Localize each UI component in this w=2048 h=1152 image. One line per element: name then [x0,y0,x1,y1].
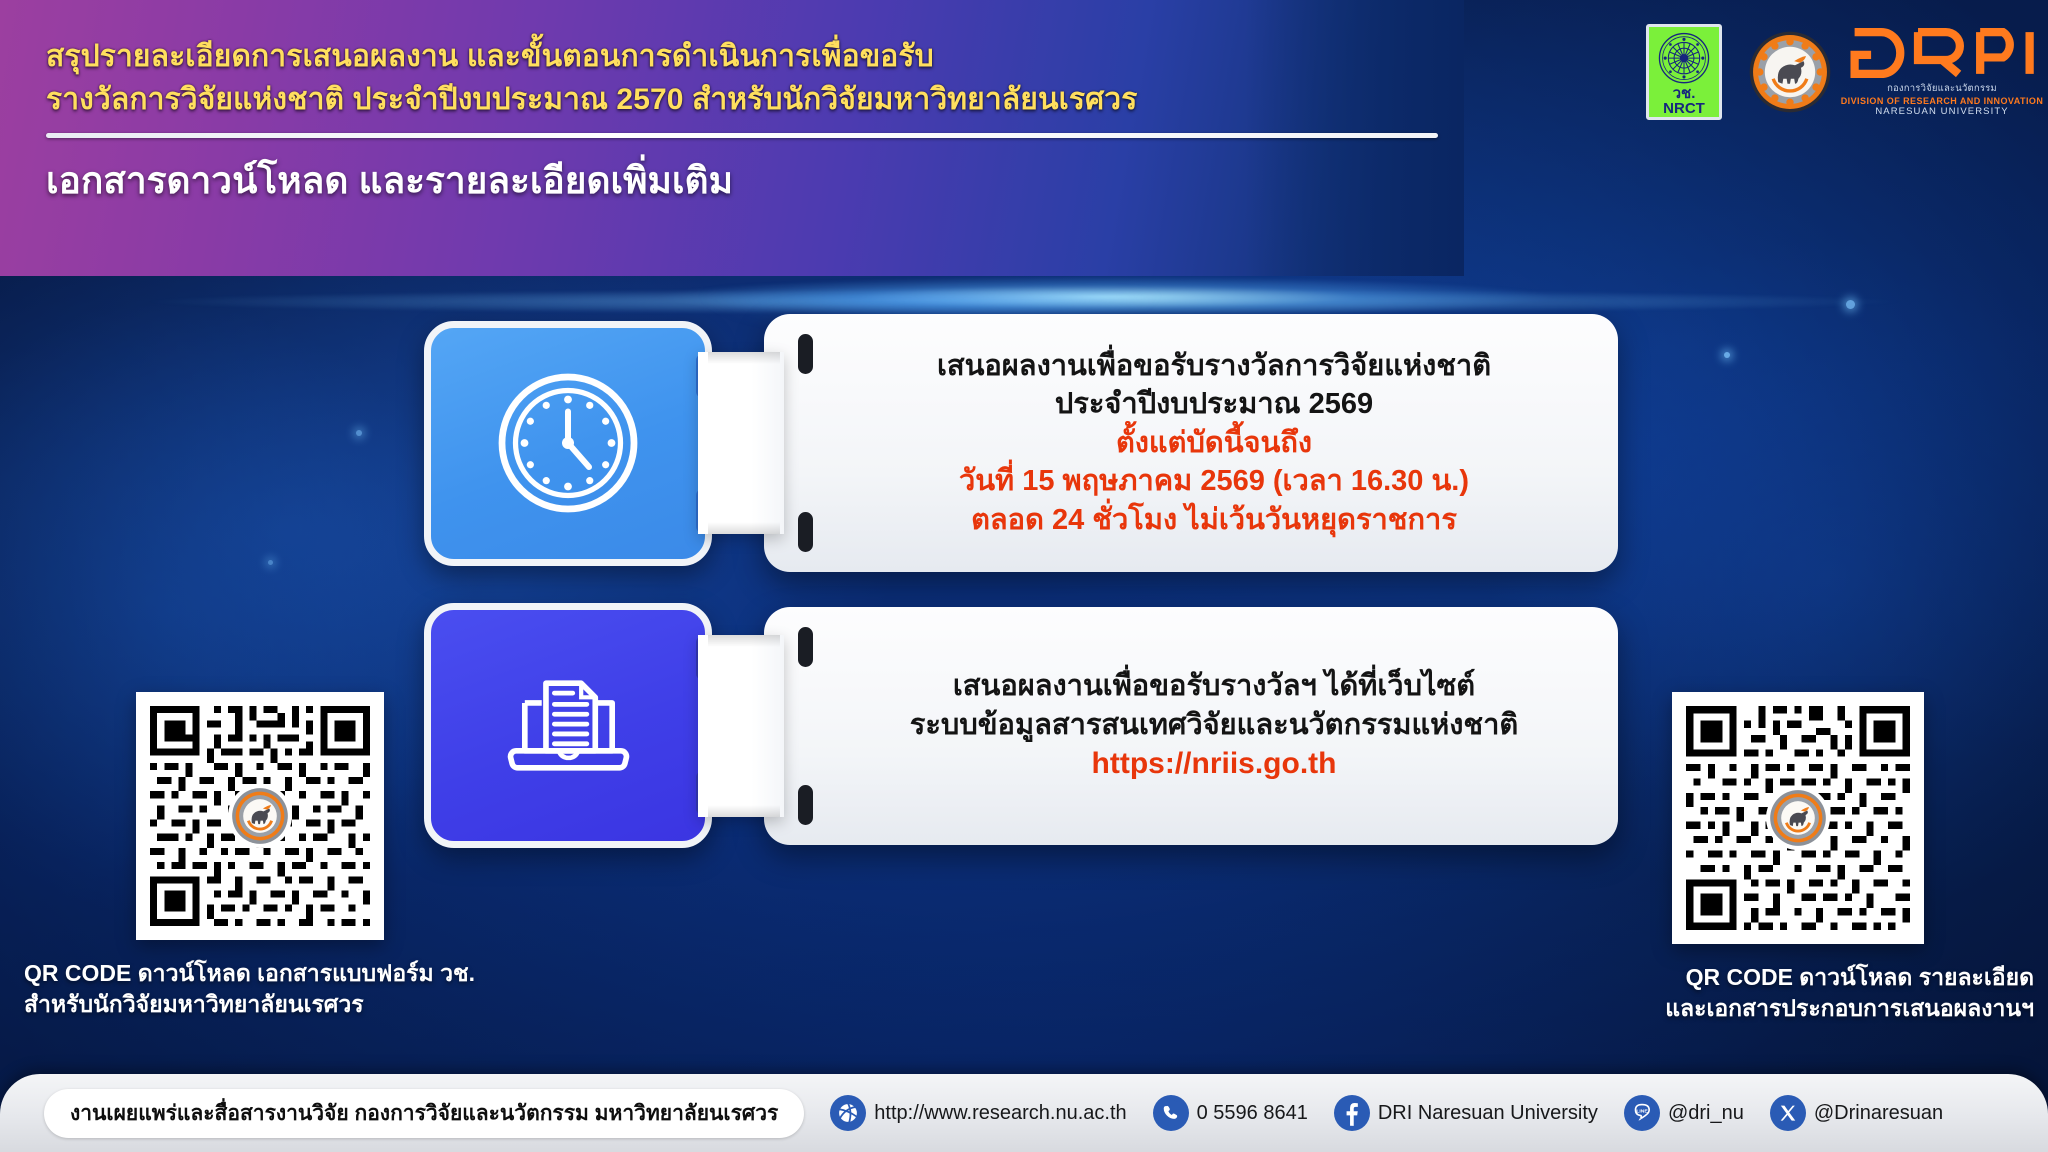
qr-code-details[interactable] [1672,692,1924,944]
website-icon [830,1095,866,1131]
qr-center-logo [1766,786,1830,850]
card-line: ประจำปีงบประมาณ 2569 [1055,385,1373,424]
dri-wordmark-icon [1847,27,2037,79]
footer-bar: งานเผยแพร่และสื่อสารงานวิจัย กองการวิจัย… [0,1074,2048,1152]
ribbon-connector [698,635,784,817]
nrct-english-abbr: NRCT [1663,101,1705,117]
icon-box-clock [424,321,712,566]
card-pin-bottom [798,512,813,552]
logo-group: วช. NRCT กองการวิจัยและนวัตกรรม DIVI [1646,24,2026,120]
page-subtitle: เอกสารดาวน์โหลด และรายละเอียดเพิ่มเติม [46,158,1446,204]
website-label: http://www.research.nu.ac.th [874,1102,1126,1125]
contact-line[interactable]: LINE @dri_nu [1624,1095,1744,1131]
background-spark [1724,352,1730,358]
background-spark [356,430,362,436]
clock-icon [493,368,643,518]
phone-icon [1153,1095,1189,1131]
ribbon-connector [698,352,784,534]
icon-box-laptop [424,603,712,848]
naresuan-university-seal-icon [1748,30,1832,114]
facebook-label: DRI Naresuan University [1378,1102,1598,1125]
nriis-url-link[interactable]: https://nriis.go.th [1092,744,1337,784]
qr-code-details-block: QR CODE ดาวน์โหลด รายละเอียด และเอกสารปร… [1658,692,1938,1024]
dri-thai-label: กองการวิจัยและนวัตกรรม [1887,81,1997,96]
qr-code-forms[interactable] [136,692,384,940]
line-label: @dri_nu [1668,1102,1744,1125]
dri-english-label-1: DIVISION OF RESEARCH AND INNOVATION [1841,96,2044,106]
contact-phone[interactable]: 0 5596 8641 [1153,1095,1308,1131]
qr-code-forms-block: QR CODE ดาวน์โหลด เอกสารแบบฟอร์ม วช. สำห… [120,692,400,1020]
title-divider [46,133,1438,138]
contact-x-twitter[interactable]: @Drinaresuan [1770,1095,1943,1131]
phone-label: 0 5596 8641 [1197,1102,1308,1125]
naresuan-seal-icon [1769,789,1827,847]
card-line: เสนอผลงานเพื่อขอรับรางวัลการวิจัยแห่งชาต… [937,347,1491,386]
nrct-thai-abbr: วช. [1673,86,1696,101]
card-line: ตั้งแต่บัดนี้จนถึง [1116,424,1312,463]
card-pin-top [798,334,813,374]
facebook-icon [1334,1095,1370,1131]
info-card-deadline: เสนอผลงานเพื่อขอรับรางวัลการวิจัยแห่งชาต… [424,314,1618,572]
card-line: ตลอด 24 ชั่วโมง ไม่เว้นวันหยุดราชการ [971,501,1457,540]
nrct-seal-icon [1656,32,1712,84]
x-twitter-label: @Drinaresuan [1814,1102,1943,1125]
info-card-website: เสนอผลงานเพื่อขอรับรางวัลฯ ได้ที่เว็บไซต… [424,603,1618,848]
footer-org-label: งานเผยแพร่และสื่อสารงานวิจัย กองการวิจัย… [44,1089,804,1138]
qr-details-caption: QR CODE ดาวน์โหลด รายละเอียด และเอกสารปร… [1658,962,2034,1024]
background-spark [1846,300,1855,309]
qr-details-caption-line-1: QR CODE ดาวน์โหลด รายละเอียด [1658,962,2034,993]
naresuan-seal-icon [231,787,289,845]
x-twitter-icon [1770,1095,1806,1131]
card-pin-top [798,627,813,667]
dri-logo: กองการวิจัยและนวัตกรรม DIVISION OF RESEA… [1858,27,2026,117]
line-icon: LINE [1624,1095,1660,1131]
qr-forms-caption-line-1: QR CODE ดาวน์โหลด เอกสารแบบฟอร์ม วช. [24,958,400,989]
card-pin-bottom [798,785,813,825]
page-title-line-1: สรุปรายละเอียดการเสนอผลงาน และขั้นตอนการ… [46,36,1446,79]
qr-forms-caption: QR CODE ดาวน์โหลด เอกสารแบบฟอร์ม วช. สำห… [24,958,400,1020]
qr-details-caption-line-2: และเอกสารประกอบการเสนอผลงานฯ [1658,993,2034,1024]
svg-text:LINE: LINE [1636,1109,1648,1115]
contact-website[interactable]: http://www.research.nu.ac.th [830,1095,1126,1131]
card-line: วันที่ 15 พฤษภาคม 2569 (เวลา 16.30 น.) [959,462,1469,501]
qr-center-logo [228,784,292,848]
header-text-block: สรุปรายละเอียดการเสนอผลงาน และขั้นตอนการ… [46,36,1446,204]
page-title-line-2: รางวัลการวิจัยแห่งชาติ ประจำปีงบประมาณ 2… [46,79,1446,122]
qr-forms-caption-line-2: สำหรับนักวิจัยมหาวิทยาลัยนเรศวร [24,989,400,1020]
dri-english-label-2: NARESUAN UNIVERSITY [1875,106,2008,117]
card-line: เสนอผลงานเพื่อขอรับรางวัลฯ ได้ที่เว็บไซต… [953,667,1475,706]
background-spark [268,560,273,565]
nrct-logo: วช. NRCT [1646,24,1722,120]
contact-facebook[interactable]: DRI Naresuan University [1334,1095,1598,1131]
deadline-text-card: เสนอผลงานเพื่อขอรับรางวัลการวิจัยแห่งชาต… [764,314,1618,572]
website-text-card: เสนอผลงานเพื่อขอรับรางวัลฯ ได้ที่เว็บไซต… [764,607,1618,845]
laptop-document-icon [491,653,646,798]
card-line: ระบบข้อมูลสารสนเทศวิจัยและนวัตกรรมแห่งชา… [910,706,1518,745]
